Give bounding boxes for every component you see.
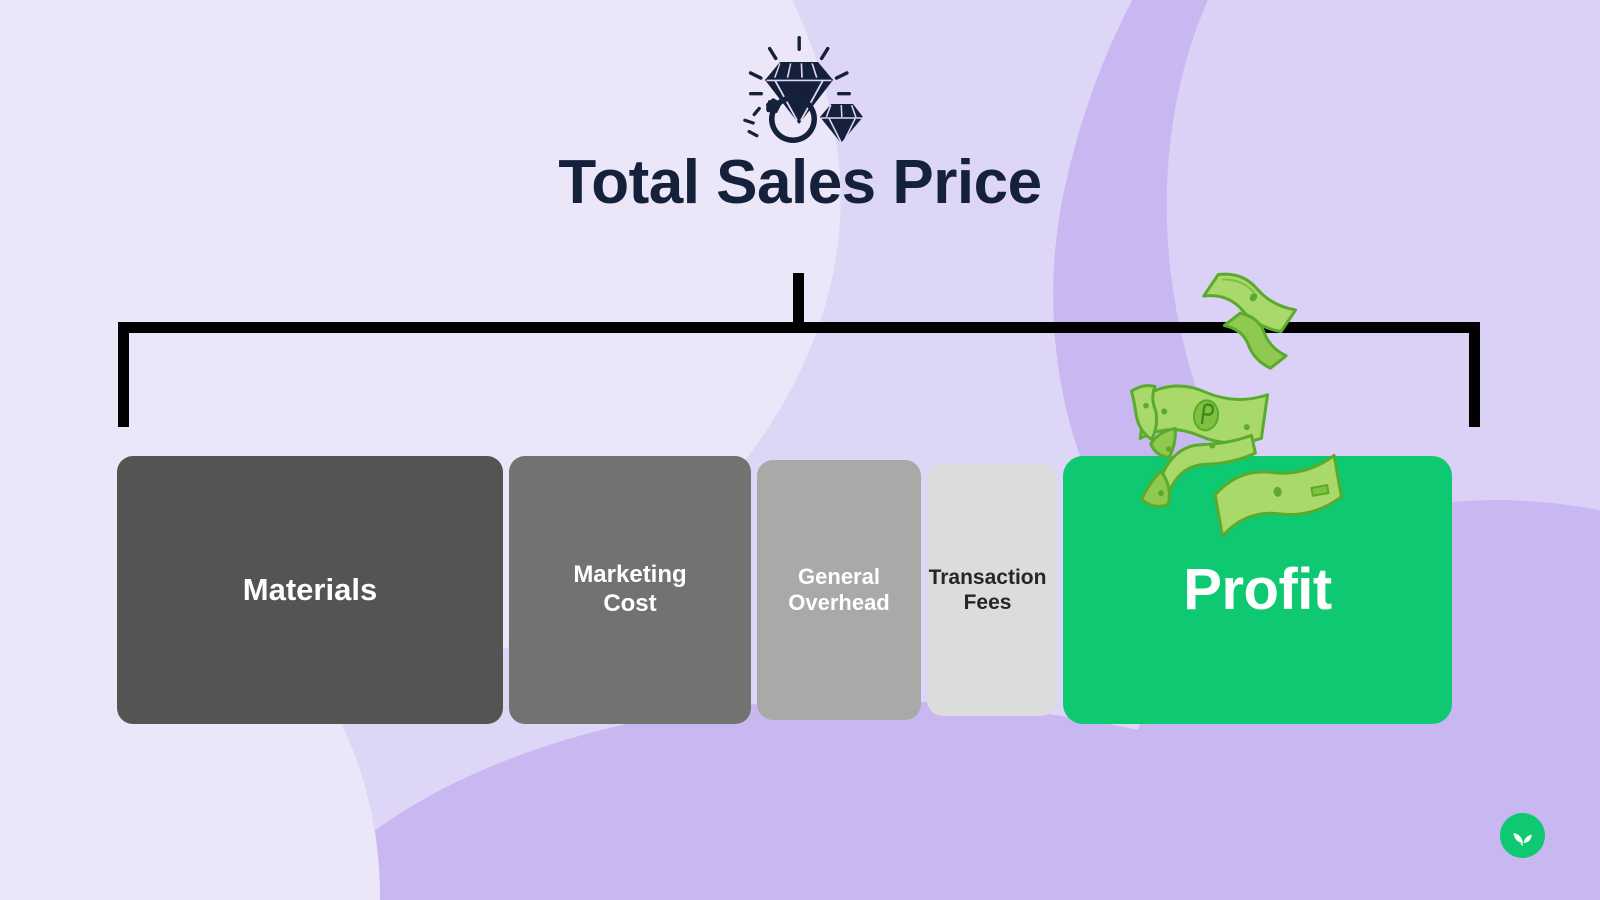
header: Total Sales Price	[0, 34, 1600, 215]
segment-materials-label: Materials	[243, 571, 377, 608]
segment-marketing-cost-label: Marketing Cost	[573, 561, 686, 619]
diamond-ring-icon	[735, 34, 865, 152]
infographic-canvas: Total Sales Price Materials Marketing Co…	[0, 0, 1600, 900]
segment-general-overhead-label: General Overhead	[788, 564, 890, 617]
segment-transaction-fees[interactable]: Transaction Fees	[927, 464, 1057, 716]
segment-transaction-fees-label: Transaction Fees	[924, 565, 1051, 615]
segment-materials[interactable]: Materials	[117, 456, 503, 724]
price-breakdown-bars: Materials Marketing Cost General Overhea…	[117, 456, 1452, 724]
sprout-leaf-logo[interactable]	[1500, 813, 1545, 858]
segment-profit[interactable]: Profit	[1063, 456, 1452, 724]
background-blob-bottom-wide	[250, 700, 1550, 900]
segment-general-overhead[interactable]: General Overhead	[757, 460, 921, 720]
segment-profit-label: Profit	[1183, 555, 1331, 625]
page-title: Total Sales Price	[558, 150, 1041, 215]
segment-marketing-cost[interactable]: Marketing Cost	[509, 456, 751, 724]
